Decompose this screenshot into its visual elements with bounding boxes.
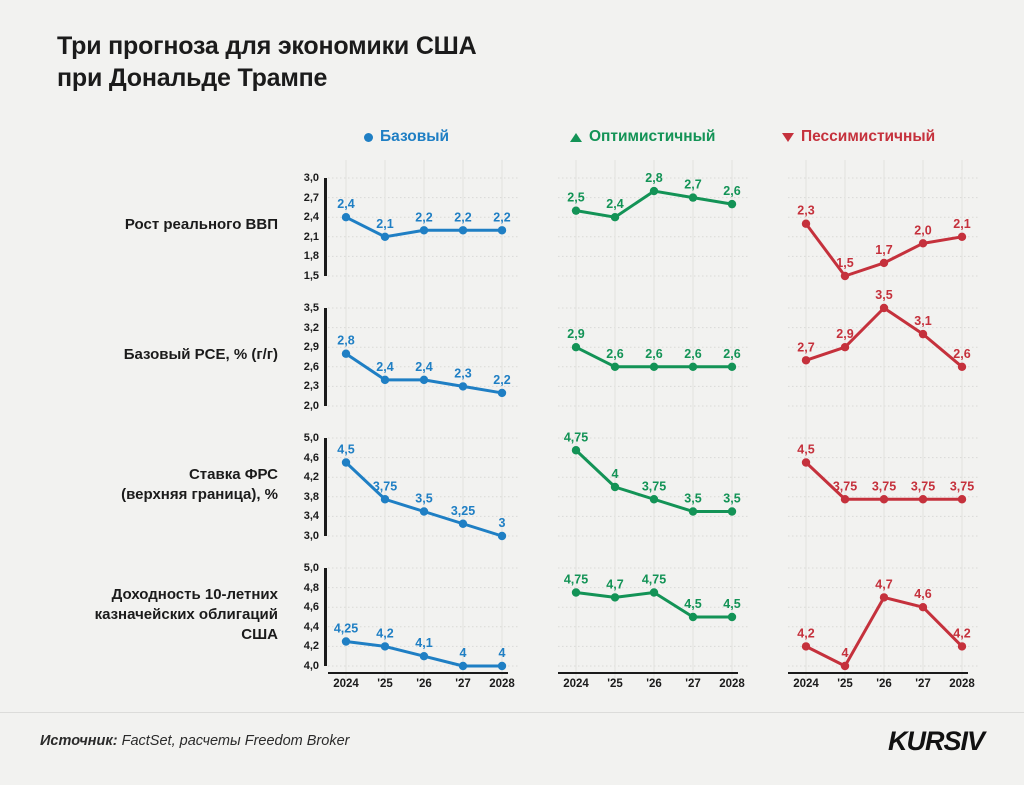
data-point bbox=[420, 507, 428, 515]
plot-area: 4,254,24,144 bbox=[328, 550, 520, 680]
series-plot: 2,31,51,72,02,1 bbox=[788, 160, 980, 290]
y-axis-tick: 3,2 bbox=[304, 322, 319, 334]
plot-area: 2,92,62,62,62,6 bbox=[558, 290, 750, 420]
series-plot: 4,254,24,144 bbox=[328, 550, 520, 680]
chart-panel-base: 5,04,64,23,83,43,04,53,753,53,253 bbox=[288, 420, 520, 550]
y-axis-tick: 4,4 bbox=[304, 621, 319, 633]
data-point bbox=[841, 495, 849, 503]
data-label: 2,2 bbox=[493, 210, 510, 224]
chart-row: Ставка ФРС (верхняя граница), %5,04,64,2… bbox=[0, 420, 1024, 550]
data-label: 3,75 bbox=[833, 479, 857, 493]
series-plot: 4,244,74,64,2 bbox=[788, 550, 980, 680]
plot-area: 2,82,42,42,32,2 bbox=[328, 290, 520, 420]
series-plot: 2,42,12,22,22,2 bbox=[328, 160, 520, 290]
x-axis-tick: 2024 bbox=[563, 678, 589, 690]
data-point bbox=[919, 603, 927, 611]
x-axis-tick: '25 bbox=[377, 678, 393, 690]
y-axis-tick: 3,4 bbox=[304, 510, 319, 522]
y-axis-tick: 2,7 bbox=[304, 192, 319, 204]
data-point bbox=[802, 642, 810, 650]
x-axis-strip: 2024'25'26'2720282024'25'26'2720282024'2… bbox=[0, 672, 1024, 702]
data-label: 2,6 bbox=[723, 184, 740, 198]
data-point bbox=[650, 588, 658, 596]
data-point bbox=[958, 233, 966, 241]
data-label: 3,25 bbox=[451, 504, 475, 518]
data-point bbox=[459, 226, 467, 234]
x-axis-tick: 2028 bbox=[489, 678, 515, 690]
data-label: 2,4 bbox=[415, 360, 432, 374]
data-point bbox=[342, 213, 350, 221]
data-point bbox=[841, 272, 849, 280]
chart-panel-optimistic: 2,92,62,62,62,6 bbox=[518, 290, 750, 420]
data-label: 3 bbox=[499, 516, 506, 530]
x-axis-tick: '27 bbox=[455, 678, 471, 690]
data-point bbox=[572, 588, 580, 596]
data-point bbox=[689, 613, 697, 621]
data-label: 4,75 bbox=[642, 573, 666, 587]
chart-panel-base: 3,53,22,92,62,32,02,82,42,42,32,2 bbox=[288, 290, 520, 420]
plot-area: 4,7543,753,53,5 bbox=[558, 420, 750, 550]
y-axis-tick: 3,5 bbox=[304, 302, 319, 314]
data-label: 2,6 bbox=[953, 347, 970, 361]
data-label: 2,7 bbox=[797, 340, 814, 354]
data-point bbox=[611, 593, 619, 601]
x-axis-line bbox=[328, 672, 508, 674]
data-label: 2,2 bbox=[493, 373, 510, 387]
data-point bbox=[420, 652, 428, 660]
data-point bbox=[880, 259, 888, 267]
data-label: 4,7 bbox=[606, 577, 623, 591]
data-label: 2,4 bbox=[337, 197, 354, 211]
x-axis-labels: 2024'25'26'272028 bbox=[558, 678, 750, 698]
x-axis-labels: 2024'25'26'272028 bbox=[788, 678, 980, 698]
y-axis: 3,02,72,42,11,81,5 bbox=[288, 160, 322, 290]
x-axis-tick: '25 bbox=[607, 678, 623, 690]
data-label: 2,3 bbox=[797, 204, 814, 218]
x-axis-tick: '25 bbox=[837, 678, 853, 690]
data-point bbox=[919, 330, 927, 338]
data-label: 3,1 bbox=[914, 314, 931, 328]
data-point bbox=[880, 495, 888, 503]
y-axis-tick: 5,0 bbox=[304, 562, 319, 574]
data-label: 2,6 bbox=[606, 347, 623, 361]
data-point bbox=[650, 363, 658, 371]
page-title: Три прогноза для экономики США при Донал… bbox=[57, 30, 476, 94]
data-label: 1,7 bbox=[875, 243, 892, 257]
y-axis: 5,04,84,64,44,24,0 bbox=[288, 550, 322, 680]
x-axis-tick: 2024 bbox=[333, 678, 359, 690]
plot-area: 2,72,93,53,12,6 bbox=[788, 290, 980, 420]
series-plot: 2,52,42,82,72,6 bbox=[558, 160, 750, 290]
data-point bbox=[728, 613, 736, 621]
legend-label-base: Базовый bbox=[380, 128, 449, 146]
plot-area: 4,53,753,53,253 bbox=[328, 420, 520, 550]
y-axis-tick: 4,8 bbox=[304, 582, 319, 594]
data-point bbox=[572, 446, 580, 454]
data-point bbox=[459, 662, 467, 670]
y-axis-tick: 1,8 bbox=[304, 250, 319, 262]
data-point bbox=[802, 356, 810, 364]
data-label: 2,9 bbox=[836, 327, 853, 341]
triangle-down-icon bbox=[782, 133, 794, 142]
data-label: 4,2 bbox=[797, 626, 814, 640]
data-point bbox=[841, 343, 849, 351]
chart-panel-optimistic: 4,754,74,754,54,5 bbox=[518, 550, 750, 680]
y-axis-tick: 2,9 bbox=[304, 341, 319, 353]
chart-panel-base: 3,02,72,42,11,81,52,42,12,22,22,2 bbox=[288, 160, 520, 290]
y-axis-tick: 2,0 bbox=[304, 400, 319, 412]
y-axis-tick: 5,0 bbox=[304, 432, 319, 444]
y-axis-rule bbox=[324, 568, 327, 666]
data-label: 3,5 bbox=[415, 492, 432, 506]
data-point bbox=[381, 642, 389, 650]
series-plot: 2,82,42,42,32,2 bbox=[328, 290, 520, 420]
data-point bbox=[342, 350, 350, 358]
data-point bbox=[381, 233, 389, 241]
series-plot: 4,754,74,754,54,5 bbox=[558, 550, 750, 680]
data-point bbox=[342, 637, 350, 645]
data-label: 4,7 bbox=[875, 577, 892, 591]
y-axis-rule bbox=[324, 308, 327, 406]
y-axis-tick: 1,5 bbox=[304, 270, 319, 282]
data-label: 3,75 bbox=[911, 479, 935, 493]
data-label: 4 bbox=[460, 646, 467, 660]
data-label: 2,4 bbox=[376, 360, 393, 374]
infographic-page: Три прогноза для экономики США при Донал… bbox=[0, 0, 1024, 785]
x-axis-tick: '27 bbox=[685, 678, 701, 690]
data-label: 2,8 bbox=[645, 171, 662, 185]
chart-panel-optimistic: 4,7543,753,53,5 bbox=[518, 420, 750, 550]
data-point bbox=[611, 363, 619, 371]
y-axis-tick: 3,8 bbox=[304, 491, 319, 503]
data-label: 2,9 bbox=[567, 327, 584, 341]
data-point bbox=[689, 363, 697, 371]
legend-item-optimistic: Оптимистичный bbox=[570, 128, 715, 146]
data-label: 4,5 bbox=[684, 597, 701, 611]
data-label: 4,2 bbox=[953, 626, 970, 640]
plot-area: 2,31,51,72,02,1 bbox=[788, 160, 980, 290]
data-point bbox=[498, 532, 506, 540]
y-axis: 5,04,64,23,83,43,0 bbox=[288, 420, 322, 550]
x-axis-tick: 2028 bbox=[719, 678, 745, 690]
data-label: 4,1 bbox=[415, 636, 432, 650]
data-label: 2,2 bbox=[454, 210, 471, 224]
series-plot: 4,53,753,53,253 bbox=[328, 420, 520, 550]
data-label: 4,5 bbox=[797, 443, 814, 457]
series-plot: 2,92,62,62,62,6 bbox=[558, 290, 750, 420]
chart-row: Базовый PCE, % (г/г)3,53,22,92,62,32,02,… bbox=[0, 290, 1024, 420]
chart-panel-pessimistic: 4,244,74,64,2 bbox=[748, 550, 980, 680]
data-label: 4,75 bbox=[564, 573, 588, 587]
x-axis-tick: 2024 bbox=[793, 678, 819, 690]
series-plot: 2,72,93,53,12,6 bbox=[788, 290, 980, 420]
chart-row: Доходность 10-летних казначейских облига… bbox=[0, 550, 1024, 680]
chart-panel-base: 5,04,84,64,44,24,04,254,24,144 bbox=[288, 550, 520, 680]
data-point bbox=[802, 458, 810, 466]
plot-area: 4,754,74,754,54,5 bbox=[558, 550, 750, 680]
row-label: Базовый PCE, % (г/г) bbox=[28, 290, 278, 420]
data-label: 4,5 bbox=[723, 597, 740, 611]
y-axis-tick: 2,4 bbox=[304, 211, 319, 223]
data-label: 3,75 bbox=[950, 479, 974, 493]
x-axis-labels: 2024'25'26'272028 bbox=[328, 678, 520, 698]
data-label: 2,5 bbox=[567, 191, 584, 205]
row-label: Доходность 10-летних казначейских облига… bbox=[28, 550, 278, 680]
data-label: 2,8 bbox=[337, 334, 354, 348]
data-point bbox=[611, 483, 619, 491]
x-axis: 2024'25'26'272028 bbox=[518, 672, 750, 702]
data-label: 2,6 bbox=[684, 347, 701, 361]
data-point bbox=[381, 376, 389, 384]
data-point bbox=[689, 193, 697, 201]
x-axis-line bbox=[788, 672, 968, 674]
data-point bbox=[611, 213, 619, 221]
data-label: 2,3 bbox=[454, 366, 471, 380]
x-axis-tick: '27 bbox=[915, 678, 931, 690]
series-plot: 4,7543,753,53,5 bbox=[558, 420, 750, 550]
data-label: 4,6 bbox=[914, 587, 931, 601]
data-label: 2,6 bbox=[723, 347, 740, 361]
y-axis-tick: 3,0 bbox=[304, 172, 319, 184]
data-point bbox=[958, 363, 966, 371]
data-point bbox=[381, 495, 389, 503]
data-point bbox=[420, 226, 428, 234]
legend-label-pessimistic: Пессимистичный bbox=[801, 128, 935, 146]
data-label: 3,5 bbox=[875, 290, 892, 302]
brand-logo: KURSIV bbox=[888, 726, 984, 757]
x-axis-tick: '26 bbox=[646, 678, 662, 690]
data-point bbox=[498, 226, 506, 234]
y-axis-tick: 4,2 bbox=[304, 640, 319, 652]
y-axis-rule bbox=[324, 178, 327, 276]
data-point bbox=[650, 187, 658, 195]
data-label: 4,75 bbox=[564, 430, 588, 444]
y-axis-tick: 4,2 bbox=[304, 471, 319, 483]
circle-icon bbox=[364, 133, 373, 142]
plot-area: 2,42,12,22,22,2 bbox=[328, 160, 520, 290]
chart-panel-pessimistic: 2,31,51,72,02,1 bbox=[748, 160, 980, 290]
data-label: 2,1 bbox=[376, 217, 393, 231]
y-axis-tick: 3,0 bbox=[304, 530, 319, 542]
plot-area: 4,244,74,64,2 bbox=[788, 550, 980, 680]
data-point bbox=[841, 662, 849, 670]
data-label: 2,2 bbox=[415, 210, 432, 224]
chart-panel-pessimistic: 4,53,753,753,753,75 bbox=[748, 420, 980, 550]
y-axis-tick: 2,6 bbox=[304, 361, 319, 373]
data-label: 3,5 bbox=[723, 492, 740, 506]
y-axis-tick: 4,0 bbox=[304, 660, 319, 672]
x-axis: 2024'25'26'272028 bbox=[748, 672, 980, 702]
y-axis-tick: 4,6 bbox=[304, 452, 319, 464]
data-point bbox=[880, 304, 888, 312]
data-label: 2,4 bbox=[606, 197, 623, 211]
x-axis-tick: '26 bbox=[416, 678, 432, 690]
data-point bbox=[342, 458, 350, 466]
data-label: 3,5 bbox=[684, 492, 701, 506]
data-label: 2,0 bbox=[914, 223, 931, 237]
chart-rows: Рост реального ВВП3,02,72,42,11,81,52,42… bbox=[0, 160, 1024, 680]
data-point bbox=[728, 363, 736, 371]
series-plot: 4,53,753,753,753,75 bbox=[788, 420, 980, 550]
data-point bbox=[572, 206, 580, 214]
row-label: Ставка ФРС (верхняя граница), % bbox=[28, 420, 278, 550]
triangle-up-icon bbox=[570, 133, 582, 142]
data-point bbox=[728, 200, 736, 208]
data-point bbox=[498, 389, 506, 397]
plot-area: 4,53,753,753,753,75 bbox=[788, 420, 980, 550]
data-point bbox=[459, 520, 467, 528]
data-point bbox=[919, 495, 927, 503]
data-label: 2,1 bbox=[953, 217, 970, 231]
data-label: 4 bbox=[612, 467, 619, 481]
chart-panel-pessimistic: 2,72,93,53,12,6 bbox=[748, 290, 980, 420]
x-axis-tick: '26 bbox=[876, 678, 892, 690]
data-label: 4 bbox=[842, 646, 849, 660]
chart-legend: Базовый Оптимистичный Пессимистичный bbox=[300, 128, 990, 156]
footer-divider bbox=[0, 712, 1024, 713]
data-point bbox=[498, 662, 506, 670]
data-point bbox=[689, 507, 697, 515]
y-axis-tick: 4,6 bbox=[304, 601, 319, 613]
y-axis-tick: 2,3 bbox=[304, 380, 319, 392]
data-label: 4,25 bbox=[334, 622, 358, 636]
y-axis-tick: 2,1 bbox=[304, 231, 319, 243]
row-label: Рост реального ВВП bbox=[28, 160, 278, 290]
data-label: 3,75 bbox=[642, 479, 666, 493]
chart-panel-optimistic: 2,52,42,82,72,6 bbox=[518, 160, 750, 290]
legend-label-optimistic: Оптимистичный bbox=[589, 128, 715, 146]
plot-area: 2,52,42,82,72,6 bbox=[558, 160, 750, 290]
data-label: 3,75 bbox=[872, 479, 896, 493]
y-axis: 3,53,22,92,62,32,0 bbox=[288, 290, 322, 420]
data-point bbox=[958, 642, 966, 650]
data-label: 3,75 bbox=[373, 479, 397, 493]
data-point bbox=[958, 495, 966, 503]
data-label: 4,2 bbox=[376, 626, 393, 640]
legend-item-base: Базовый bbox=[364, 128, 449, 146]
data-label: 1,5 bbox=[836, 256, 853, 270]
legend-item-pessimistic: Пессимистичный bbox=[782, 128, 935, 146]
data-point bbox=[880, 593, 888, 601]
x-axis-line bbox=[558, 672, 738, 674]
data-point bbox=[420, 376, 428, 384]
data-label: 2,6 bbox=[645, 347, 662, 361]
x-axis-tick: 2028 bbox=[949, 678, 975, 690]
data-point bbox=[572, 343, 580, 351]
y-axis-rule bbox=[324, 438, 327, 536]
data-label: 4,5 bbox=[337, 443, 354, 457]
source-note: Источник: FactSet, расчеты Freedom Broke… bbox=[40, 733, 349, 749]
source-text: FactSet, расчеты Freedom Broker bbox=[118, 733, 350, 749]
data-point bbox=[459, 382, 467, 390]
data-label: 2,7 bbox=[684, 178, 701, 192]
source-prefix: Источник: bbox=[40, 733, 118, 749]
chart-row: Рост реального ВВП3,02,72,42,11,81,52,42… bbox=[0, 160, 1024, 290]
data-point bbox=[728, 507, 736, 515]
data-point bbox=[802, 220, 810, 228]
data-point bbox=[919, 239, 927, 247]
x-axis: 2024'25'26'272028 bbox=[288, 672, 520, 702]
data-label: 4 bbox=[499, 646, 506, 660]
data-point bbox=[650, 495, 658, 503]
